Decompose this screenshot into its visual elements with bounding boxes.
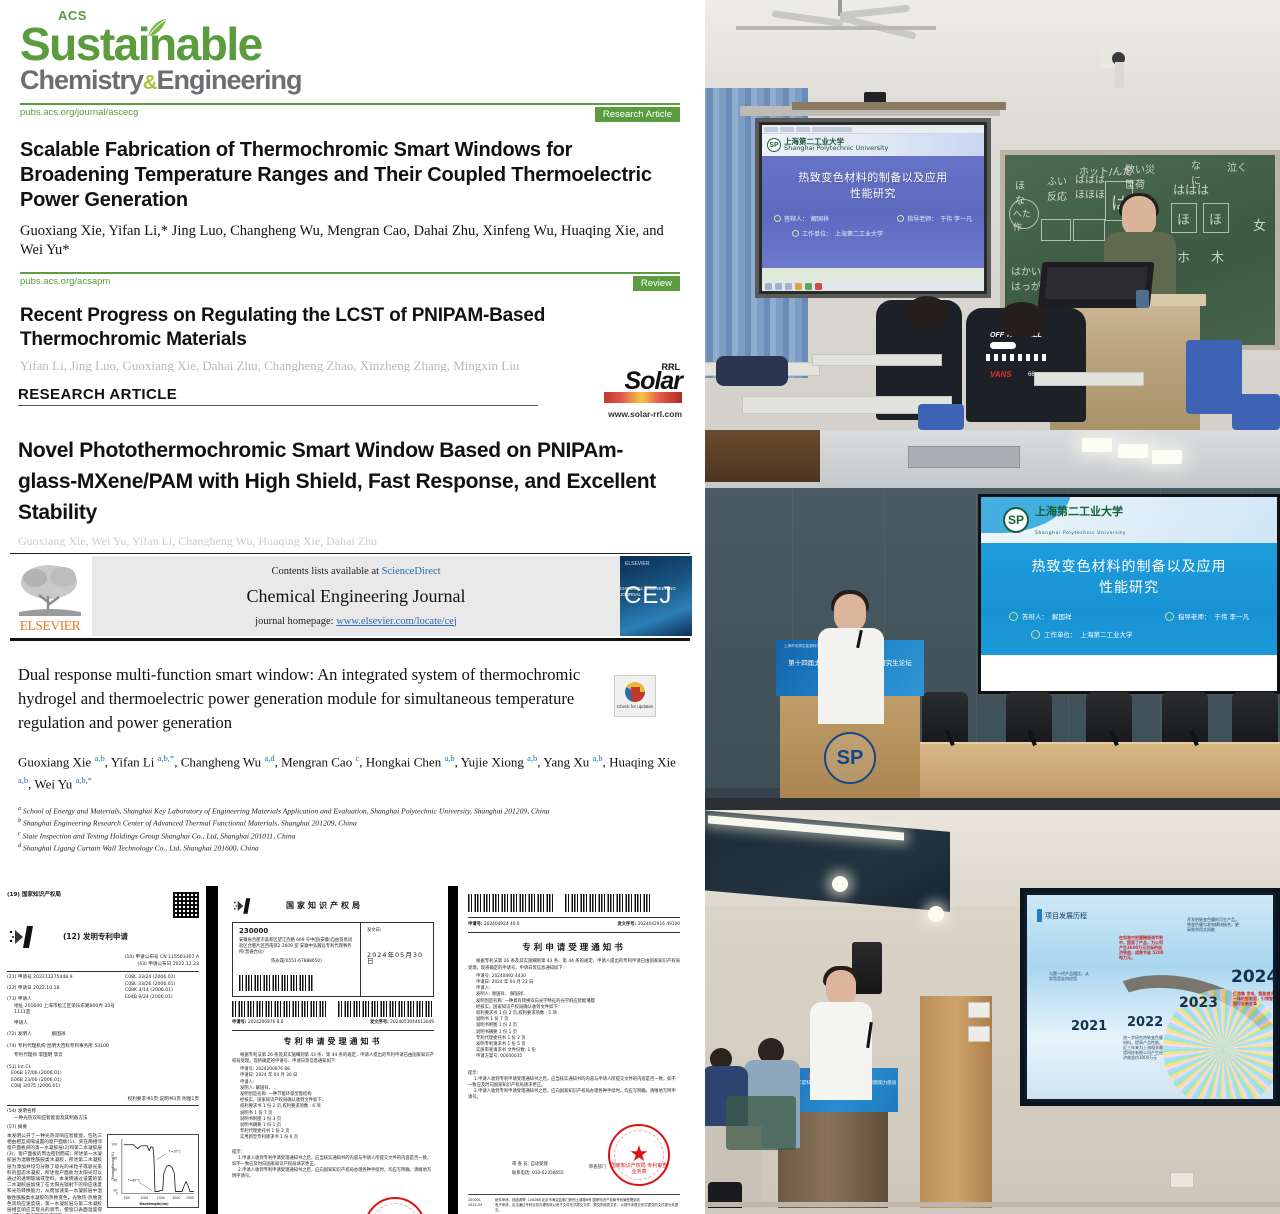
patent-document-1[interactable]: (19) 国家知识产权局 (12) 发明专利申请 (10) 申请公布号 CN 1… — [0, 886, 218, 1214]
patent1-pubdate: 2022.12.23 — [173, 962, 199, 967]
acs-logo-sustainable-text: Sustainable — [20, 18, 262, 70]
timeline-year-2023: 2023 — [1179, 995, 1218, 1011]
wall-control-panel — [968, 1002, 990, 1018]
paper-title-1: Scalable Fabrication of Thermochromic Sm… — [20, 138, 680, 213]
publication-acs-sustainable: ACS Sustainable Chemistry&Engineering pu… — [0, 0, 700, 260]
slide-affil-1: 上海第二工业大学 — [835, 229, 883, 238]
patent2-barcode-left — [239, 975, 313, 991]
auditorium-ceiling — [700, 430, 1280, 492]
title-bar-icon — [1037, 909, 1042, 922]
patent3-intro: 根据专利法第 26 条及其实施细则第 43 条、第 44 条的规定，申请人提出的… — [468, 959, 680, 971]
patents-row: (19) 国家知识产权局 (12) 发明专利申请 (10) 申请公布号 CN 1… — [0, 886, 700, 1214]
timeline-note-2021: 与第一代产品相比，从实验室走向应用 — [1049, 971, 1089, 981]
solar-url[interactable]: www.solar-rrl.com — [18, 409, 682, 419]
bullet-icon — [792, 230, 799, 237]
doc-line: 1.申请人收到专利申请受理通知书之后，应当核实通知书的内容与申请人所提交文件的内… — [468, 1077, 680, 1089]
acs-review-meta-row: pubs.acs.org/acsapm Review — [20, 276, 680, 291]
patent3-fields: 申请号: 20240492 4430申请日: 2024 年 04 月 23 日申… — [468, 974, 680, 1061]
cnipa-emblem-icon-2 — [232, 896, 256, 916]
slide-affil-label-2: 工作单位： — [1044, 629, 1077, 639]
svg-text:T=20°C: T=20°C — [168, 1149, 181, 1153]
patent1-ipc-list: E06B 17/06 (2006.01)E06B 23/00 (2006.01)… — [7, 1071, 119, 1091]
photos-column: ほな へた作 ふい反応 はははほほほ はかいつカはっがい域 は にはは1手 ホッ… — [700, 0, 1280, 1214]
patent1-ipc-right-list: C08L 33/24 (2006.01)C08L 33/26 (2006.01)… — [125, 975, 199, 1001]
svg-text:Transmittance(%): Transmittance(%) — [111, 1152, 115, 1180]
cej-homepage-prefix: journal homepage: — [255, 616, 336, 627]
timeline-note-2024b: 打造集 发电、智能遮光于一体的智能窗，引领智能窗行业新变革 — [1233, 991, 1273, 1006]
bullet-icon — [1165, 612, 1174, 621]
conference-floor — [700, 1208, 1280, 1214]
publication-solar-rrl: RESEARCH ARTICLE RRL Solar www.solar-rrl… — [0, 370, 700, 547]
patent3-barcode-1 — [468, 894, 555, 912]
elsevier-wordmark: ELSEVIER — [20, 618, 81, 634]
slide-advisor-2: 于伟 李一凡 — [1214, 611, 1249, 621]
downlight-2 — [928, 906, 944, 922]
cej-cover-thumbnail: ELSEVIER CEJ CHEMICAL ENGINEERING JOURNA… — [620, 556, 692, 636]
patent1-pubno: CN 115503307 A — [160, 955, 199, 960]
timeline-year-2021: 2021 — [1071, 1019, 1107, 1034]
patent3-seal-text: 国家知识产权局 专利审查业务章 — [610, 1163, 668, 1175]
cej-masthead: ELSEVIER Contents lists available at Sci… — [8, 556, 692, 636]
affiliation-line: d Shanghai Ligang Curtain Wall Technolog… — [18, 841, 682, 854]
projector-screen: SP 上海第二工业大学 Shanghai Polytechnic Univers… — [755, 118, 991, 298]
speaker-head-2 — [834, 594, 866, 632]
patent1-rights-note: 权利要求书1页 说明书3页 附图1页 — [7, 1097, 199, 1104]
presenter-head — [1122, 196, 1156, 236]
review-type-badge: Review — [633, 276, 680, 291]
solar-rrl-logo: RRL Solar — [604, 370, 682, 403]
patent2-intro: 根据专利法第 26 条及其实施细则第 43 条、第 44 条的规定，申请人提出的… — [232, 1053, 434, 1065]
photo-conference[interactable]: 项目发展历程 2021 2022 2023 2024 与第一代产品相比，从实验室… — [700, 810, 1280, 1214]
speaker-person-3 — [810, 970, 872, 1100]
patent2-title: 专利申请受理通知书 — [232, 1039, 434, 1045]
slide-presenter-2: 解国祥 — [1052, 611, 1072, 621]
speaker-body-2 — [818, 628, 884, 724]
cej-top-rule — [10, 553, 690, 554]
slide-affil-2: 上海第二工业大学 — [1081, 629, 1133, 639]
sciencedirect-link[interactable]: ScienceDirect — [382, 566, 441, 577]
patent1-agency-label: (74) 专利代理机构 — [7, 1044, 45, 1049]
wall-skirting — [700, 1202, 1280, 1207]
slide-presenter-1: 解国祥 — [811, 214, 829, 223]
solar-rule — [18, 405, 538, 406]
timeline-year-2022: 2022 — [1127, 1015, 1163, 1030]
svg-text:2000: 2000 — [172, 1196, 180, 1200]
svg-text:2500: 2500 — [186, 1196, 194, 1200]
photo-auditorium[interactable]: SP 上海第二工业大学 Shanghai Polytechnic Univers… — [700, 430, 1280, 810]
svg-text:100: 100 — [111, 1142, 117, 1146]
patent3-title: 专利申请受理通知书 — [468, 945, 680, 951]
elsevier-logo: ELSEVIER — [8, 556, 92, 636]
patent2-serial-label: 发文序号: — [370, 1020, 389, 1025]
solar-logo-word: Solar — [604, 370, 682, 392]
timeline-note-2023: 在实验中把握精细调节到中，提高了产品，为公司产生3600万元目标的经济效益，成果… — [1119, 935, 1165, 960]
publication-acs-review: pubs.acs.org/acsapm Review Recent Progre… — [0, 272, 700, 372]
slide-title-line2-2: 性能研究 — [1032, 578, 1227, 599]
patent1-appdate-label: (22) 申请日 — [7, 986, 32, 991]
timeline-title-row: 项目发展历程 — [1037, 909, 1087, 922]
svg-text:1500: 1500 — [157, 1196, 165, 1200]
slide-advisor-1: 于伟 李一凡 — [940, 214, 972, 223]
patent1-pubdate-label: (43) 申请公布日 — [137, 962, 171, 967]
patent3-serial-label: 发文序号: — [617, 922, 636, 927]
speaker-head-3 — [826, 970, 856, 1006]
slide-advisor-label-2: 指导老师： — [1178, 611, 1211, 621]
acs-journal-url[interactable]: pubs.acs.org/journal/ascecg — [20, 107, 138, 118]
paper-affiliations: a School of Energy and Materials, Shangh… — [18, 804, 682, 854]
patent2-address: 安徽省合肥市高新区望江西路 669 号中国(安徽)自由贸易试验区合肥片区西南部2… — [239, 938, 354, 956]
slide-advisor-label-1: 指导老师： — [907, 214, 937, 223]
timeline-slide: 项目发展历程 2021 2022 2023 2024 与第一代产品相比，从实验室… — [1027, 895, 1273, 1099]
elsevier-tree-icon — [15, 562, 85, 618]
slide-presenter-label-1: 答辩人： — [784, 214, 808, 223]
crossmark-icon — [625, 682, 645, 702]
bullet-icon — [1009, 612, 1018, 621]
cej-homepage-line: journal homepage: www.elsevier.com/locat… — [255, 616, 457, 627]
patent3-examiner: 自动受理 — [530, 1162, 547, 1167]
cej-center-block: Contents lists available at ScienceDirec… — [92, 556, 620, 636]
patent1-abstract-label: (57) 摘要 — [7, 1125, 199, 1132]
slide-university-en-1: Shanghai Polytechnic University — [784, 144, 888, 152]
slide-body-1: SP 上海第二工业大学 Shanghai Polytechnic Univers… — [762, 134, 984, 268]
patent2-issuedate: 2024年05月30日 — [367, 952, 427, 964]
patent1-appno-label: (21) 申请号 — [7, 975, 32, 980]
doc-line: 实用新型专利请求书 1 份 6 页 — [240, 1135, 434, 1141]
patent2-appno-label: 申请号: — [232, 1020, 247, 1025]
acs-logo-chemistry-engineering: Chemistry&Engineering — [20, 66, 680, 97]
timeline-title: 项目发展历程 — [1045, 911, 1087, 921]
patent2-appno: 2024200876 8.8 — [248, 1020, 284, 1025]
ceiling-wood-panel — [700, 430, 820, 482]
auditorium-floor — [700, 798, 1280, 810]
paper-title-4: Dual response multi-function smart windo… — [18, 663, 682, 735]
timeline-year-2024: 2024 — [1231, 967, 1273, 987]
classroom-chair-3 — [918, 404, 964, 430]
check-badge-label: Check for updates — [617, 704, 654, 710]
ceiling-light-3 — [1152, 450, 1182, 464]
jacket-brand: VANS — [990, 370, 1012, 379]
patent1-agent-label: 专利代理师 — [14, 1053, 37, 1058]
patent3-serial: 2024042916 49100 — [638, 922, 680, 927]
patent-document-2[interactable]: 国家知识产权局 230000 安徽省合肥市高新区望江西路 669 号中国(安徽)… — [218, 886, 458, 1214]
paper-title-3: Novel Photothermochromic Smart Window Ba… — [18, 435, 682, 528]
solar-header-row: RESEARCH ARTICLE RRL Solar — [18, 370, 682, 403]
auditorium-screen: SP 上海第二工业大学 Shanghai Polytechnic Univers… — [978, 494, 1280, 694]
slide-header-2: SP 上海第二工业大学 Shanghai Polytechnic Univers… — [981, 497, 1277, 543]
patent2-barcode-1 — [232, 1001, 328, 1017]
patent1-inventor-label: (72) 发明人 — [7, 1032, 32, 1039]
slide-affil-label-1: 工作单位： — [802, 229, 832, 238]
slide-meta-1: 答辩人：解国祥 指导老师：于伟 李一凡 工作单位：上海第二工业大学 — [762, 214, 984, 244]
student-1-head — [906, 296, 948, 330]
doc-line: 1.申请人收到专利申请受理通知书之后，应当核实通知书的内容与申请人所提交文件的内… — [232, 1156, 434, 1168]
svg-text:T=60°C: T=60°C — [127, 1178, 140, 1182]
cej-cover-subtitle: CHEMICAL ENGINEERING JOURNAL — [620, 586, 689, 597]
slide-title-2: 热致变色材料的制备以及应用 性能研究 — [1032, 557, 1227, 599]
patent1-qr-code — [173, 892, 199, 918]
slide-presenter-label-2: 答辩人： — [1022, 611, 1048, 621]
patent2-barcode-2 — [338, 1001, 434, 1017]
cej-article-block: Check for updates Dual response multi-fu… — [8, 663, 692, 854]
doc-line: 2.申请人收到专利申请受理通知书之后，应向国家知识产权局办理各种手续时，均应写明… — [468, 1089, 680, 1101]
acs-sustainable-logo: ACS Sustainable Chemistry&Engineering — [20, 6, 680, 97]
check-for-updates-badge[interactable]: Check for updates — [614, 675, 656, 717]
svg-text:0: 0 — [116, 1191, 118, 1195]
speaker-body-3 — [810, 1002, 872, 1100]
panel-chair-4 — [1162, 692, 1208, 744]
patent3-barcode-2 — [565, 894, 652, 912]
patent3-appno-label: 申请号: — [468, 922, 483, 927]
photo-classroom[interactable]: ほな へた作 ふい反応 はははほほほ はかいつカはっがい域 は にはは1手 ホッ… — [700, 0, 1280, 430]
poster-page: ACS Sustainable Chemistry&Engineering pu… — [0, 0, 1280, 1214]
slide-title-1: 热致变色材料的制备以及应用 性能研究 — [798, 170, 948, 202]
doc-line: E04B 9/24 (2006.01) — [125, 995, 199, 1002]
acs-review-rule-green — [20, 272, 680, 274]
doc-line: C08J 3/075 (2006.01) — [11, 1084, 119, 1091]
patent2-notices: 1.申请人收到专利申请受理通知书之后，应当核实通知书的内容与申请人所提交文件的内… — [232, 1156, 434, 1181]
svg-text:1000: 1000 — [140, 1196, 148, 1200]
paper-title-2: Recent Progress on Regulating the LCST o… — [20, 304, 680, 352]
cej-contents-line: Contents lists available at ScienceDirec… — [271, 566, 440, 577]
slide-university-en-2: Shanghai Polytechnic University — [1035, 531, 1126, 536]
column-divider — [700, 0, 705, 1214]
paper-authors-1: Guoxiang Xie, Yifan Li,* Jing Luo, Chang… — [20, 222, 680, 260]
svg-text:500: 500 — [124, 1196, 130, 1200]
acs-logo-ampersand: & — [143, 72, 156, 94]
slide-header-1: SP 上海第二工业大学 Shanghai Polytechnic Univers… — [762, 134, 984, 156]
patent2-official-seal: ★ 国家知识产权局 专利审查业务章 — [364, 1197, 426, 1214]
panel-chair-3 — [1086, 692, 1132, 744]
patent3-contact-label: 联系电话: — [512, 1171, 531, 1176]
classroom-chair-2 — [1232, 394, 1280, 430]
cej-cover-top-text: ELSEVIER — [625, 561, 649, 567]
patent3-contact: 010-62356655 — [532, 1171, 564, 1176]
patent2-issuedate-label: 发文日: — [367, 928, 427, 934]
cnipa-emblem-icon — [7, 924, 41, 950]
patent1-agency: 昆明大百科专利事务所 53100 — [47, 1044, 109, 1049]
taskbar — [762, 281, 984, 291]
cej-homepage-link[interactable]: www.elsevier.com/locate/cej — [336, 616, 457, 627]
downlight-1 — [832, 876, 848, 892]
patent2-serial: 2024053044613049 — [390, 1020, 434, 1025]
acs-meta-row: pubs.acs.org/journal/ascecg Research Art… — [20, 107, 680, 122]
university-seal-icon-2: SP — [1003, 507, 1029, 533]
patent3-examiner-label: 审 查 员: — [512, 1162, 529, 1167]
panel-chair-1 — [922, 692, 968, 744]
patent1-pubno-label: (10) 申请公布号 — [125, 955, 159, 960]
slide-footer-1 — [762, 268, 984, 281]
panel-chair-5 — [1232, 692, 1278, 744]
patent-document-3[interactable]: 申请号: 202404924 40.0 发文序号: 2024042916 491… — [458, 886, 690, 1214]
cej-contents-prefix: Contents lists available at — [271, 566, 381, 577]
publications-column: ACS Sustainable Chemistry&Engineering pu… — [0, 0, 700, 1214]
patent2-zipcode: 230000 — [239, 928, 354, 934]
patent1-inventor: 解国祥 — [52, 1032, 66, 1039]
patent1-abstract: 本发明公开了一种光热双响应智能窗，包括三相由相互间隔设置的窗户面板(1)、夹在两… — [7, 1134, 102, 1214]
patent1-agent: 李国明 李云 — [38, 1053, 62, 1058]
slide-meta-2: 答辩人：解国祥 指导老师：于伟 李一凡 工作单位：上海第二工业大学 — [981, 611, 1277, 647]
ceiling-vent-icon — [908, 446, 1020, 468]
publication-cej: ELSEVIER Contents lists available at Sci… — [0, 553, 700, 854]
paper-authors-4: Guoxiang Xie a,b, Yifan Li a,b,*, Changh… — [18, 749, 682, 794]
affiliation-line: c State Inspection and Testing Holdings … — [18, 829, 682, 842]
ceiling-light-2 — [1118, 444, 1148, 458]
leaf-icon — [146, 18, 168, 38]
slide-footer-2 — [981, 655, 1277, 685]
doc-line: 2.申请人收到专利申请受理通知书之后，应向国家知识产权局办理各种手续时，均应写明… — [232, 1168, 434, 1180]
acs-rule-green — [20, 103, 680, 105]
affiliation-line: b Shanghai Engineering Research Center o… — [18, 816, 682, 829]
slide-title-line1-2: 热致变色材料的制备以及应用 — [1032, 557, 1227, 578]
led-display: 项目发展历程 2021 2022 2023 2024 与第一代产品相比，从实验室… — [1020, 888, 1280, 1106]
slide-title-line2-1: 性能研究 — [798, 186, 948, 202]
audience-chair — [726, 1096, 796, 1150]
speaker-person-2 — [818, 594, 884, 724]
patent2-fields: 申请号: 2024200876 88申请日: 2024 年 04 月 30 日申… — [232, 1067, 434, 1141]
cej-bottom-rule — [10, 638, 690, 641]
slide-university-1: 上海第二工业大学 Shanghai Polytechnic University — [784, 138, 888, 152]
bullet-icon — [897, 215, 904, 222]
patent3-appno: 202404924 40.0 — [484, 922, 520, 927]
bullet-icon — [774, 215, 781, 222]
patent3-notices: 1.申请人收到专利申请受理通知书之后，应当核实通知书的内容与申请人所提交文件的内… — [468, 1077, 680, 1102]
patent3-footer-2: 电子申请，应当通过专利业务办理系统以电子文件形式提交文件，提交的纸质文件，以视作… — [495, 1203, 680, 1213]
university-seal-icon: SP — [767, 138, 781, 152]
browser-chrome — [762, 125, 984, 134]
bullet-icon — [1031, 630, 1040, 639]
svg-text:Wavelength(nm): Wavelength(nm) — [139, 1202, 169, 1206]
acs-review-url[interactable]: pubs.acs.org/acsapm — [20, 276, 110, 287]
acs-logo-sustainable: Sustainable — [20, 22, 680, 66]
timeline-note-2022: 进一步研究热致变色膜材料，提高产品性能。近三年来为上海相关幕墙科技有限公司产生经… — [1123, 1035, 1163, 1060]
slide-body-2: 热致变色材料的制备以及应用 性能研究 答辩人：解国祥 指导老师：于伟 李一凡 工… — [981, 543, 1277, 655]
cup-icon — [1136, 290, 1149, 308]
patent1-appno: 202211275448.9 — [33, 975, 72, 980]
patent1-kind: (12) 发明专利申请 — [63, 934, 128, 941]
ceiling-light-1 — [1082, 438, 1112, 452]
bag-icon — [716, 356, 788, 386]
slide-university-cn-2: 上海第二工业大学 — [1035, 503, 1126, 519]
patent2-attn: 陈永霞(0551-67888650) — [239, 959, 354, 965]
paper-authors-3: Guoxiang Xie, Wei Yu, Yifan Li, Changhen… — [18, 534, 682, 547]
affiliation-line: a School of Energy and Materials, Shangh… — [18, 804, 682, 817]
patent1-name: 一种光热双响应智能窗及其制备方法 — [7, 1116, 199, 1123]
doc-line: 申请方案号: 00000035 — [476, 1054, 680, 1060]
podium-seal-icon: SP — [824, 732, 876, 784]
student-2-head — [998, 302, 1046, 338]
solar-section-label: RESEARCH ARTICLE — [18, 386, 177, 403]
patent3-dept-label: 审查部门 — [589, 1165, 606, 1171]
cej-journal-name: Chemical Engineering Journal — [247, 586, 466, 607]
slide-university-2: 上海第二工业大学 Shanghai Polytechnic University — [1035, 503, 1126, 538]
solar-rrl-superscript: RRL — [662, 362, 681, 372]
patent3-official-seal: ★ 国家知识产权局 专利审查业务章 — [608, 1124, 670, 1186]
patent1-appdate: 2022.10.18 — [33, 986, 59, 991]
timeline-note-2024: 开发热致变色膜的可生产品，将变色膜与发电模块结合，更高效利用太阳能 — [1187, 917, 1239, 932]
slide-title-line1-1: 热致变色材料的制备以及应用 — [798, 170, 948, 186]
patent1-applicant-addr: 地址 201600 上海市松江区荣乐东路900弄 35号1111室 — [7, 1004, 119, 1017]
presentation-slide-1: SP 上海第二工业大学 Shanghai Polytechnic Univers… — [762, 125, 984, 291]
vans-checker-icon — [986, 354, 1048, 361]
patent1-transmittance-chart: 100806040200 5001000150020002500 Wavelen… — [107, 1134, 199, 1208]
patent2-office: 国家知识产权局 — [286, 903, 363, 909]
article-type-badge: Research Article — [595, 107, 680, 122]
wall-control-panel-2 — [968, 1026, 990, 1042]
wall-socket-icon — [1170, 1172, 1194, 1188]
patent1-office: (19) 国家知识产权局 — [7, 892, 61, 899]
